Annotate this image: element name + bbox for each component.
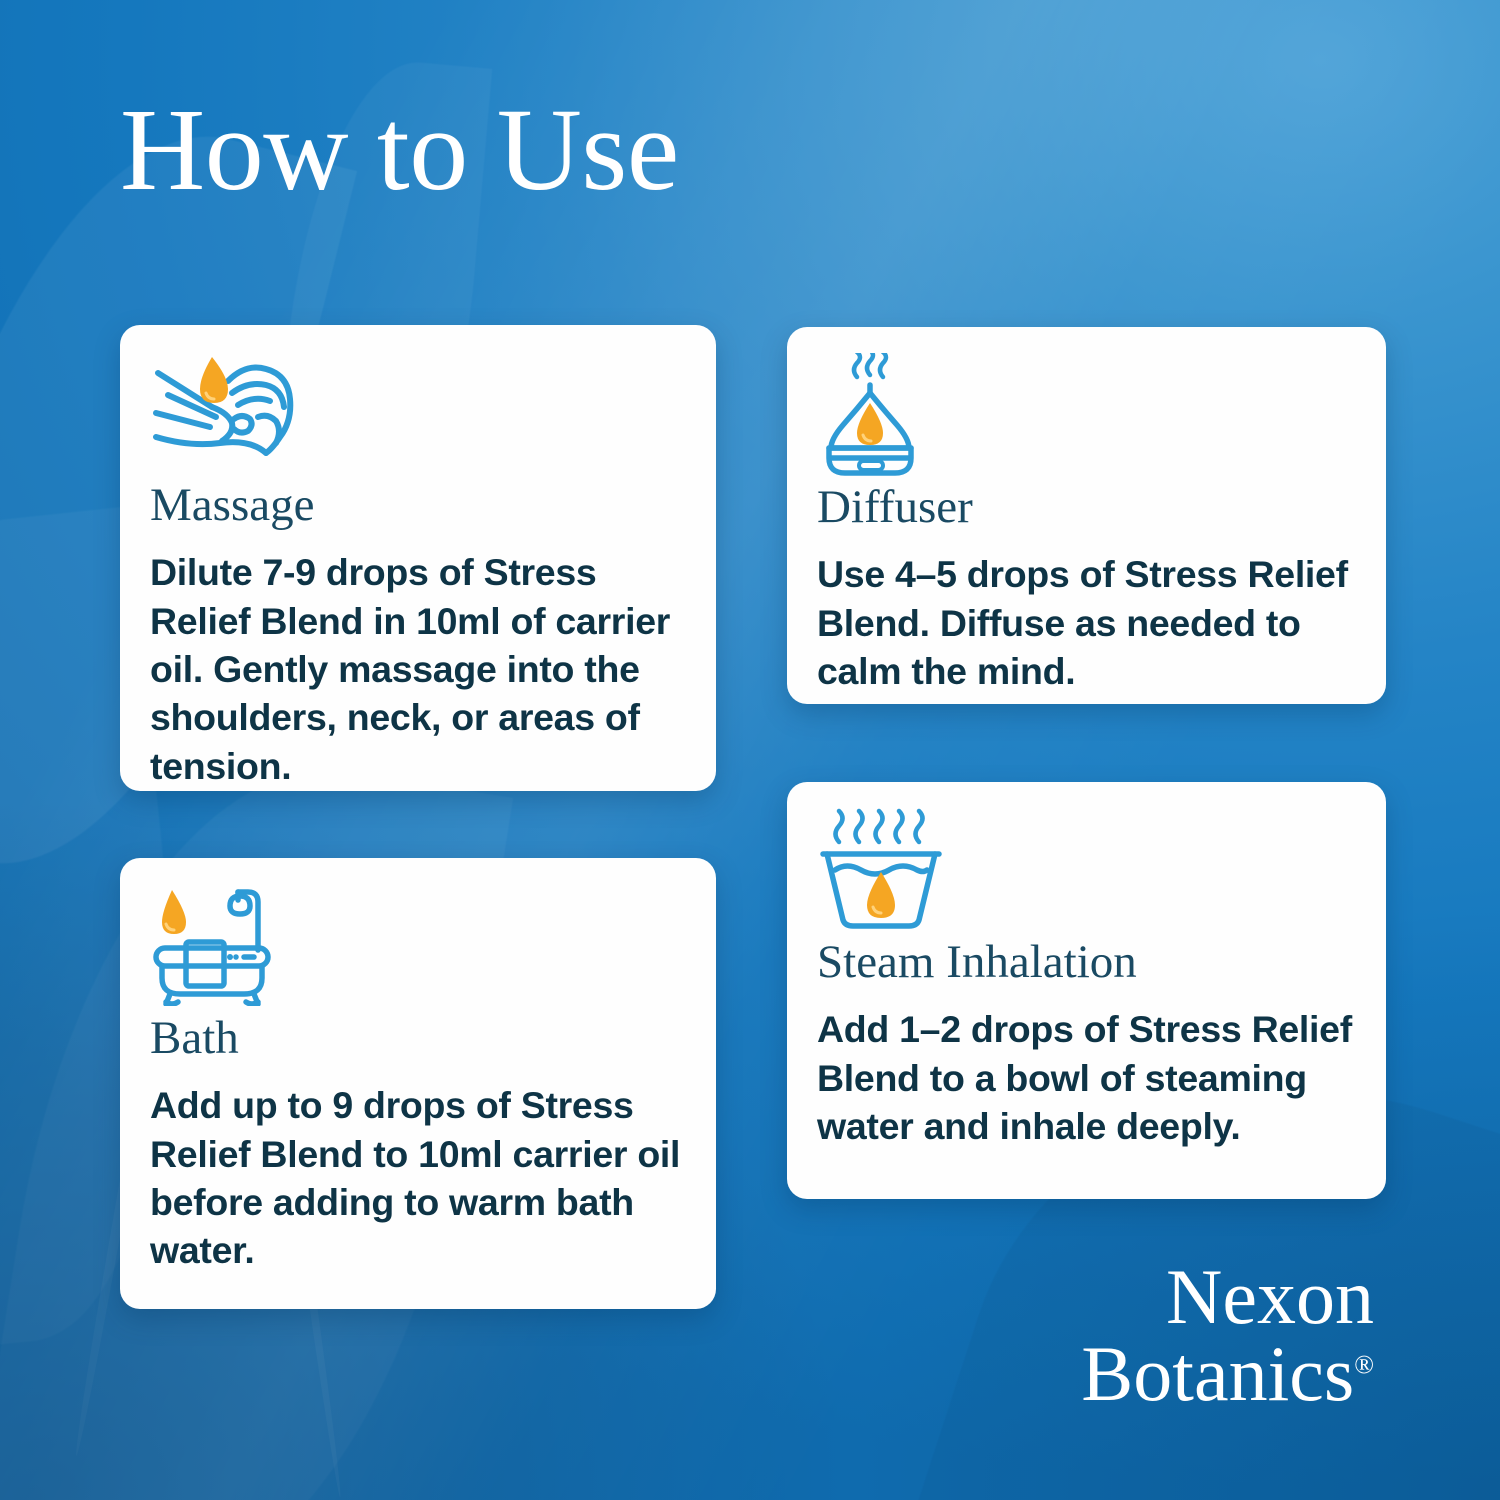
card-bath-heading: Bath <box>150 1014 686 1063</box>
steam-bowl-icon <box>817 808 945 932</box>
massage-hand-head-drop-icon <box>150 351 300 469</box>
page-title: How to Use <box>120 86 679 213</box>
brand-logo-line2: Botanics® <box>1081 1336 1374 1412</box>
oil-drop <box>867 872 895 918</box>
card-steam: Steam Inhalation Add 1–2 drops of Stress… <box>787 782 1386 1199</box>
oil-drop <box>200 357 228 403</box>
card-massage: Massage Dilute 7-9 drops of Stress Relie… <box>120 325 716 791</box>
card-bath-body: Add up to 9 drops of Stress Relief Blend… <box>150 1081 686 1275</box>
diffuser-icon <box>817 353 935 479</box>
card-diffuser-heading: Diffuser <box>817 483 1356 532</box>
card-diffuser: Diffuser Use 4–5 drops of Stress Relief … <box>787 327 1386 704</box>
brand-logo-line1: Nexon <box>1081 1259 1374 1335</box>
registered-mark: ® <box>1354 1350 1374 1379</box>
card-steam-body: Add 1–2 drops of Stress Relief Blend to … <box>817 1005 1356 1150</box>
diffuser-icon-wrap <box>817 353 1356 477</box>
card-massage-heading: Massage <box>150 481 686 530</box>
oil-drop <box>857 403 883 445</box>
card-diffuser-body: Use 4–5 drops of Stress Relief Blend. Di… <box>817 550 1356 695</box>
steam-icon-wrap <box>817 808 1356 932</box>
brand-logo: Nexon Botanics® <box>1081 1259 1374 1412</box>
brand-logo-line2-text: Botanics <box>1081 1330 1354 1417</box>
bath-icon-wrap <box>150 884 686 1008</box>
card-steam-heading: Steam Inhalation <box>817 938 1356 987</box>
bathtub-icon <box>150 884 276 1006</box>
oil-drop <box>162 890 186 934</box>
card-massage-body: Dilute 7-9 drops of Stress Relief Blend … <box>150 548 686 790</box>
massage-icon-wrap <box>150 351 686 475</box>
card-bath: Bath Add up to 9 drops of Stress Relief … <box>120 858 716 1309</box>
poster-canvas: How to Use <box>0 0 1500 1500</box>
